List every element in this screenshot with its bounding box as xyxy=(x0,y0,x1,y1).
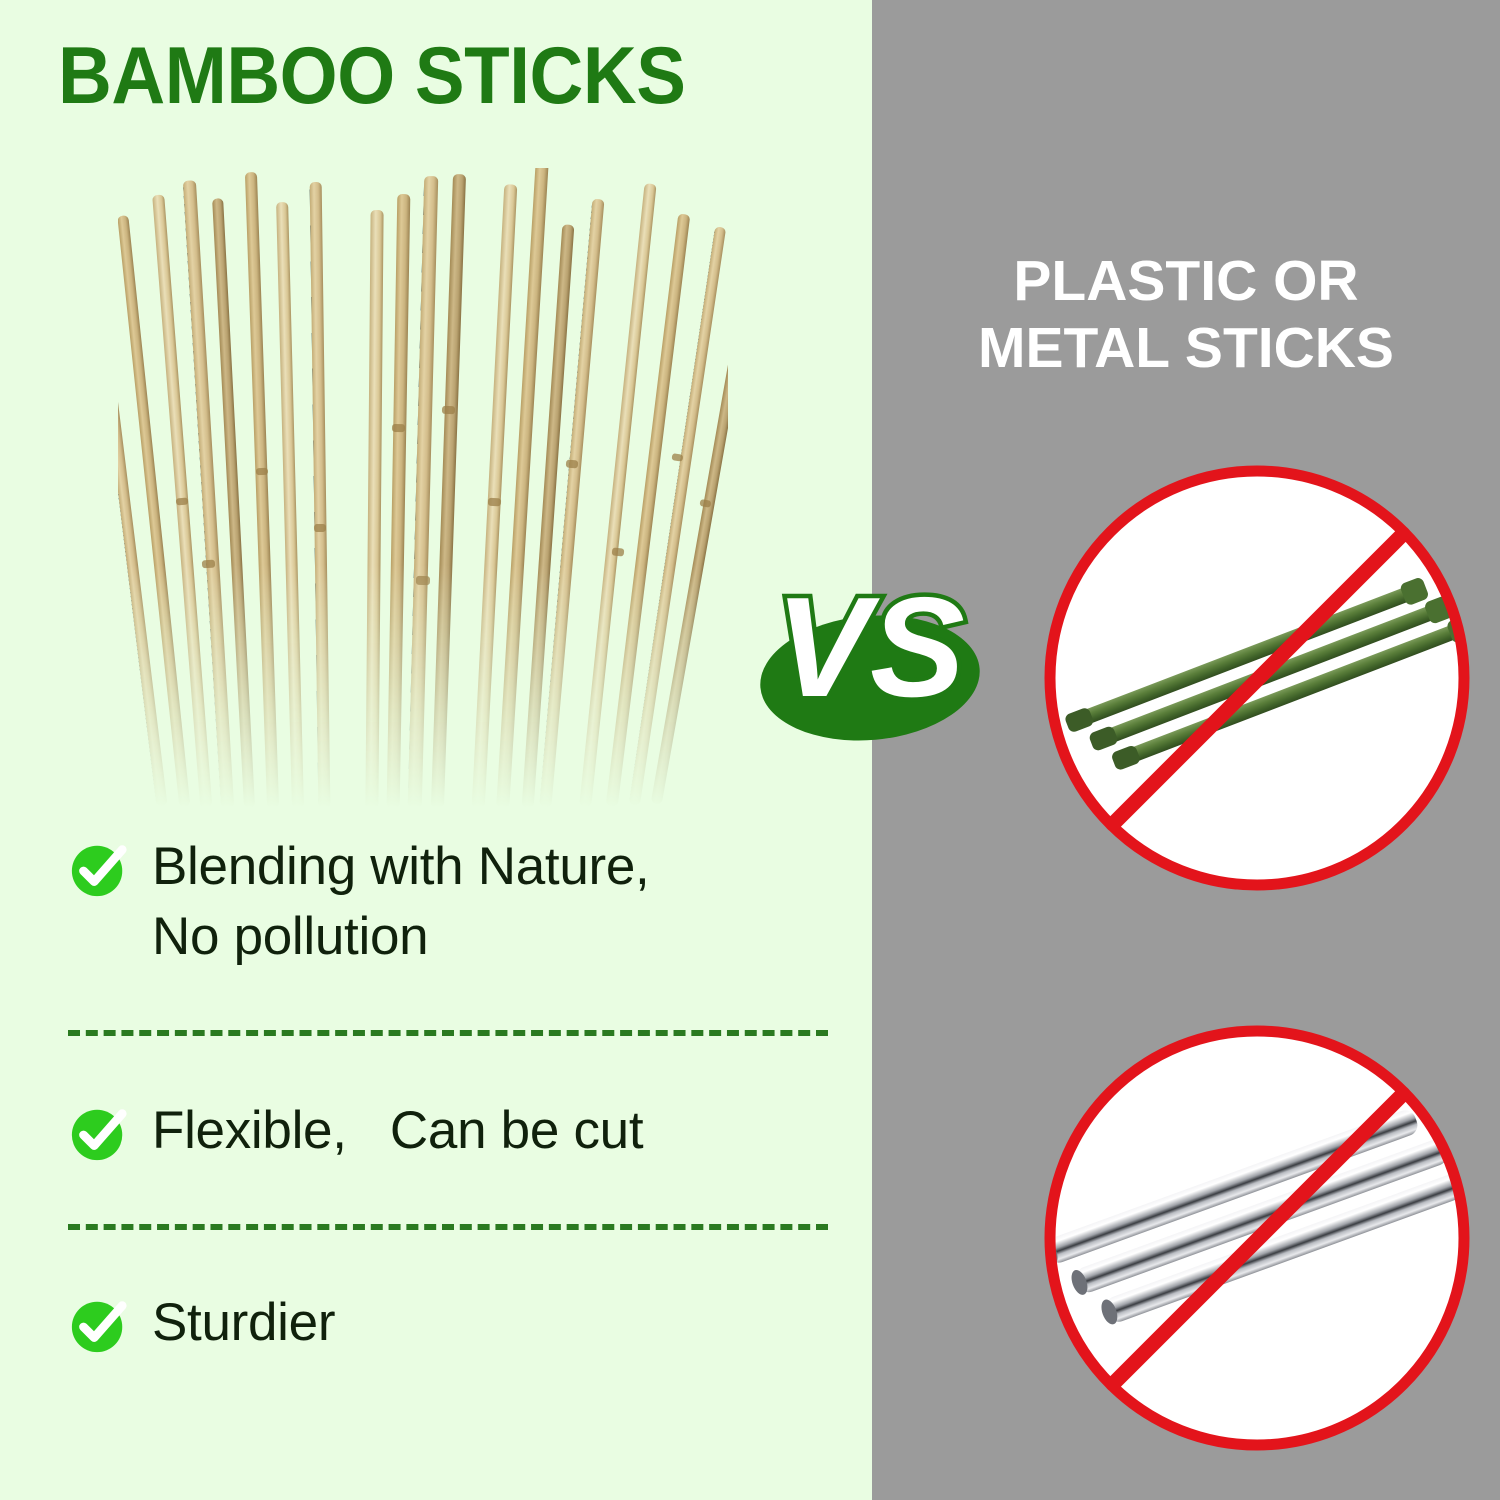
list-item: Blending with Nature, No pollution xyxy=(68,832,828,972)
spacer xyxy=(68,1036,828,1096)
check-circle-icon xyxy=(68,1294,130,1356)
comparison-infographic: BAMBOO STICKS xyxy=(0,0,1500,1500)
vs-label: VS xyxy=(775,568,964,727)
spacer xyxy=(68,1230,828,1288)
page-title: BAMBOO STICKS xyxy=(58,36,794,117)
right-panel-title-line1: PLASTIC OR xyxy=(872,248,1500,315)
right-panel-title-line2: METAL STICKS xyxy=(872,315,1500,382)
spacer xyxy=(68,1166,828,1224)
vs-badge: VS xyxy=(752,556,1002,761)
bamboo-sticks-svg xyxy=(118,168,728,808)
check-circle-icon xyxy=(68,838,130,900)
list-item: Sturdier xyxy=(68,1288,828,1358)
prohibition-sign-plastic xyxy=(1037,458,1477,898)
feature-list: Blending with Nature, No pollution Flexi… xyxy=(68,832,828,1358)
right-panel-title: PLASTIC OR METAL STICKS xyxy=(872,248,1500,381)
feature-label: Blending with Nature, No pollution xyxy=(152,832,650,972)
check-circle-icon xyxy=(68,1102,130,1164)
spacer xyxy=(68,972,828,1030)
bamboo-sticks-image xyxy=(118,168,728,808)
list-item: Flexible, Can be cut xyxy=(68,1096,828,1166)
prohibition-sign-metal xyxy=(1037,1018,1477,1458)
feature-label: Flexible, Can be cut xyxy=(152,1096,643,1166)
prohibition-sign-icon xyxy=(1037,1018,1477,1458)
feature-label: Sturdier xyxy=(152,1288,335,1358)
prohibition-sign-icon xyxy=(1037,458,1477,898)
vs-badge-svg: VS xyxy=(752,556,1002,761)
